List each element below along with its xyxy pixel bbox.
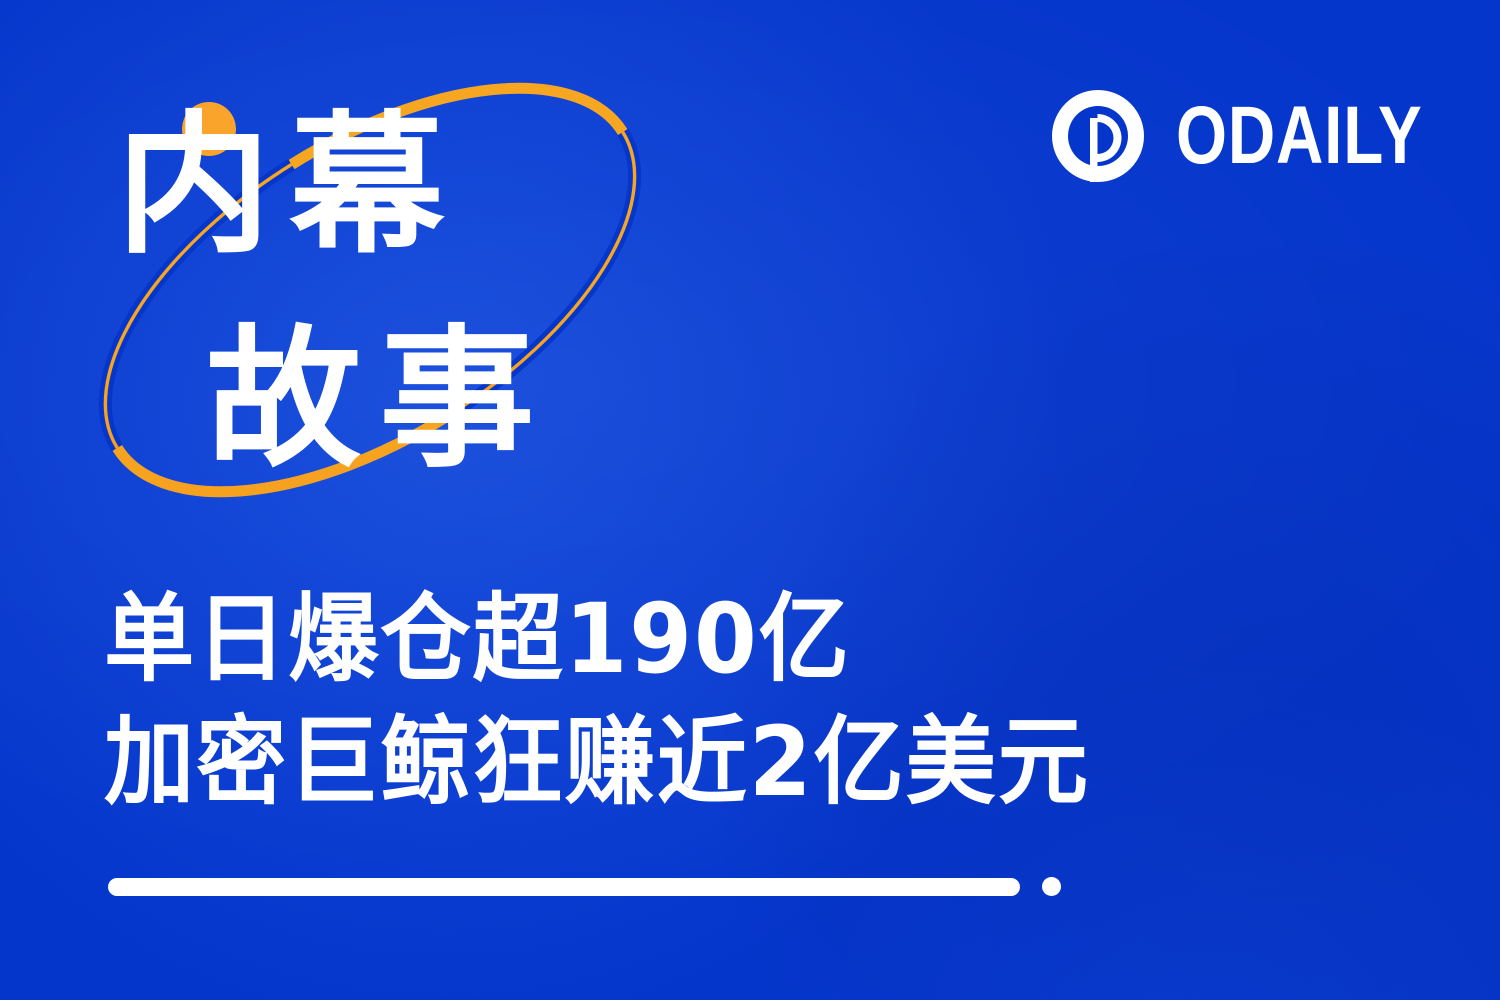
odaily-circle-p-logo-icon xyxy=(1050,88,1146,184)
masthead-line-1: 内幕 xyxy=(116,110,763,262)
footer-rule xyxy=(108,877,1061,896)
masthead-line-2: 故事 xyxy=(206,324,761,476)
footer-rule-dot-icon xyxy=(1042,877,1061,896)
headline: 单日爆仓超190亿 加密巨鲸狂赚近2亿美元 xyxy=(104,578,1394,824)
poster-canvas: 内幕 故事 ODAILY 单日爆仓超190亿 加密巨鲸狂赚近2亿美元 xyxy=(0,0,1500,1000)
brand-wordmark: ODAILY xyxy=(1176,104,1423,168)
brand-lockup: ODAILY xyxy=(1050,88,1484,184)
headline-line-2: 加密巨鲸狂赚近2亿美元 xyxy=(104,701,1317,824)
masthead: 内幕 故事 xyxy=(110,110,750,476)
headline-line-1: 单日爆仓超190亿 xyxy=(104,578,1317,701)
footer-rule-bar xyxy=(108,878,1020,896)
